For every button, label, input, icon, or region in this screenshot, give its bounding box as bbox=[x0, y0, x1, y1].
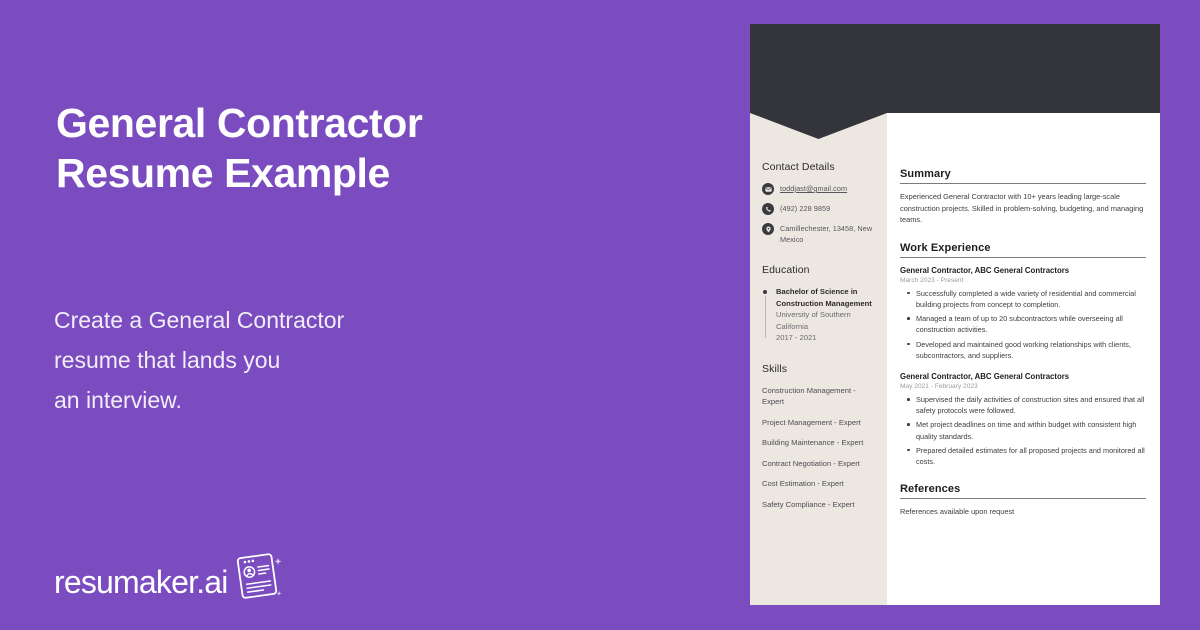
job-bullets: Successfully completed a wide variety of… bbox=[900, 288, 1146, 361]
location-pin-icon bbox=[762, 223, 774, 235]
contact-phone-text: (492) 228 9859 bbox=[780, 203, 830, 214]
references-heading: References bbox=[900, 483, 1146, 499]
phone-icon bbox=[762, 203, 774, 215]
skill-item: Safety Compliance - Expert bbox=[762, 499, 873, 511]
job-bullet: Developed and maintained good working re… bbox=[916, 339, 1146, 361]
page-title: General Contractor Resume Example bbox=[56, 98, 476, 198]
job-bullets: Supervised the daily activities of const… bbox=[900, 394, 1146, 467]
timeline-line bbox=[765, 296, 766, 338]
skills-heading: Skills bbox=[762, 363, 873, 375]
education-dates: 2017 - 2021 bbox=[776, 332, 873, 344]
envelope-icon bbox=[762, 183, 774, 195]
job-entry: General Contractor, ABC General Contract… bbox=[900, 371, 1146, 467]
summary-text: Experienced General Contractor with 10+ … bbox=[900, 191, 1146, 226]
resume-main-column: Summary Experienced General Contractor w… bbox=[887, 113, 1160, 605]
promo-banner: General Contractor Resume Example Create… bbox=[0, 0, 1200, 630]
job-bullet: Successfully completed a wide variety of… bbox=[916, 288, 1146, 310]
skill-item: Contract Negotiation - Expert bbox=[762, 458, 873, 470]
education-heading: Education bbox=[762, 264, 873, 276]
education-item: Bachelor of Science in Construction Mana… bbox=[762, 286, 873, 344]
skill-item: Construction Management - Expert bbox=[762, 385, 873, 408]
resume-sidebar: Contact Details toddjast@gmail.com (492)… bbox=[750, 113, 887, 605]
job-bullet: Supervised the daily activities of const… bbox=[916, 394, 1146, 416]
references-section: References References available upon req… bbox=[900, 483, 1146, 517]
contact-item-email[interactable]: toddjast@gmail.com bbox=[762, 183, 873, 195]
summary-section: Summary Experienced General Contractor w… bbox=[900, 168, 1146, 226]
summary-heading: Summary bbox=[900, 168, 1146, 184]
job-dates: March 2023 - Present bbox=[900, 276, 1146, 286]
education-section: Education Bachelor of Science in Constru… bbox=[762, 264, 873, 344]
job-bullet: Prepared detailed estimates for all prop… bbox=[916, 445, 1146, 467]
education-school: University of Southern California bbox=[776, 309, 873, 332]
contact-heading: Contact Details bbox=[762, 161, 873, 173]
job-bullet: Managed a team of up to 20 subcontractor… bbox=[916, 313, 1146, 335]
references-text: References available upon request bbox=[900, 506, 1146, 517]
education-degree: Bachelor of Science in Construction Mana… bbox=[776, 286, 873, 309]
contact-item-phone[interactable]: (492) 228 9859 bbox=[762, 203, 873, 215]
resume-document-icon bbox=[230, 552, 284, 600]
job-title: General Contractor, ABC General Contract… bbox=[900, 265, 1146, 276]
contact-section: Contact Details toddjast@gmail.com (492)… bbox=[762, 161, 873, 245]
contact-email-text: toddjast@gmail.com bbox=[780, 183, 847, 194]
bullet-dot-icon bbox=[763, 290, 767, 294]
job-entry: General Contractor, ABC General Contract… bbox=[900, 265, 1146, 361]
skills-section: Skills Construction Management - Expert … bbox=[762, 363, 873, 511]
promo-panel: General Contractor Resume Example Create… bbox=[0, 0, 750, 630]
contact-address-text: Camillechester, 13458, New Mexico bbox=[780, 223, 873, 245]
resumaker-logo[interactable]: resumaker.ai bbox=[54, 552, 284, 600]
job-bullet: Met project deadlines on time and within… bbox=[916, 419, 1146, 441]
work-experience-section: Work Experience General Contractor, ABC … bbox=[900, 242, 1146, 467]
job-title: General Contractor, ABC General Contract… bbox=[900, 371, 1146, 382]
work-experience-heading: Work Experience bbox=[900, 242, 1146, 258]
contact-item-address[interactable]: Camillechester, 13458, New Mexico bbox=[762, 223, 873, 245]
skill-item: Cost Estimation - Expert bbox=[762, 478, 873, 490]
job-dates: May 2021 - February 2023 bbox=[900, 382, 1146, 392]
promo-subtitle: Create a General Contractor resume that … bbox=[54, 300, 454, 420]
skill-item: Project Management - Expert bbox=[762, 417, 873, 429]
resume-preview-card[interactable]: Todd Jast General Contractor Contact Det… bbox=[750, 24, 1160, 605]
skill-item: Building Maintenance - Expert bbox=[762, 437, 873, 449]
logo-wordmark: resumaker.ai bbox=[54, 564, 228, 600]
resume-header bbox=[750, 24, 1160, 113]
